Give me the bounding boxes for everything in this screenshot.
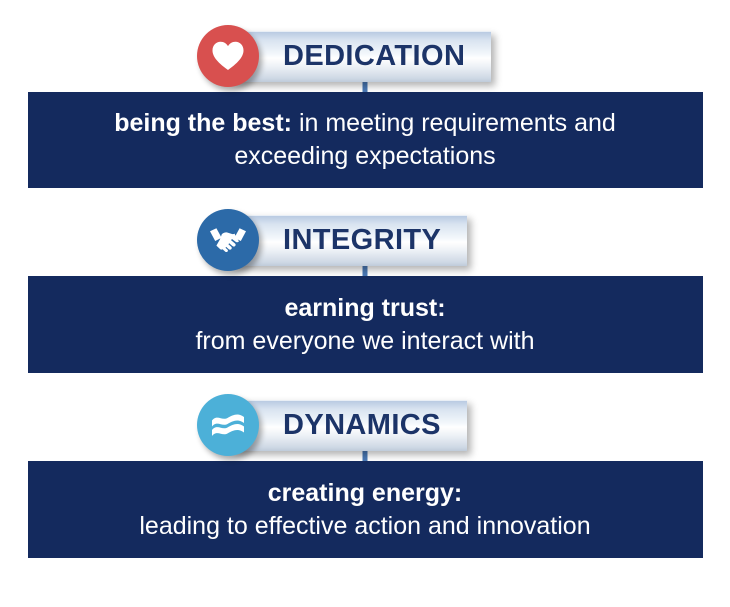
heading-dynamics: DYNAMICS (283, 411, 441, 440)
band-lead-dedication: being the best: (114, 109, 292, 137)
band-line-1: earning trust: (284, 292, 445, 325)
label-plate-integrity: INTEGRITY (231, 215, 467, 266)
label-plate-dynamics: DYNAMICS (231, 400, 467, 451)
handshake-icon (197, 209, 259, 271)
value-block-dedication: DEDICATION being the best: in meeting re… (0, 0, 730, 188)
message-band-dedication: being the best: in meeting requirements … (28, 92, 703, 188)
values-infographic: DEDICATION being the best: in meeting re… (0, 0, 730, 607)
header-row-dedication: DEDICATION (0, 20, 730, 92)
header-row-integrity: INTEGRITY (0, 204, 730, 276)
band-line-2: from everyone we interact with (195, 325, 534, 358)
heading-dedication: DEDICATION (283, 42, 465, 71)
band-line-1: being the best: in meeting requirements … (114, 107, 616, 140)
heading-integrity: INTEGRITY (283, 226, 441, 255)
message-band-integrity: earning trust: from everyone we interact… (28, 276, 703, 373)
message-band-dynamics: creating energy: leading to effective ac… (28, 461, 703, 558)
band-line-1: creating energy: (268, 477, 463, 510)
value-block-integrity: INTEGRITY earning trust: from everyone w… (0, 188, 730, 373)
value-block-dynamics: DYNAMICS creating energy: leading to eff… (0, 373, 730, 558)
band-lead-integrity: earning trust: (284, 294, 445, 322)
waves-icon (197, 394, 259, 456)
band-line-2: leading to effective action and innovati… (139, 510, 590, 543)
header-row-dynamics: DYNAMICS (0, 389, 730, 461)
band-line-2: exceeding expectations (234, 140, 495, 173)
band-lead-dynamics: creating energy: (268, 479, 463, 507)
label-plate-dedication: DEDICATION (231, 31, 491, 82)
heart-icon (197, 25, 259, 87)
band-rest-dedication: in meeting requirements and (292, 109, 616, 137)
